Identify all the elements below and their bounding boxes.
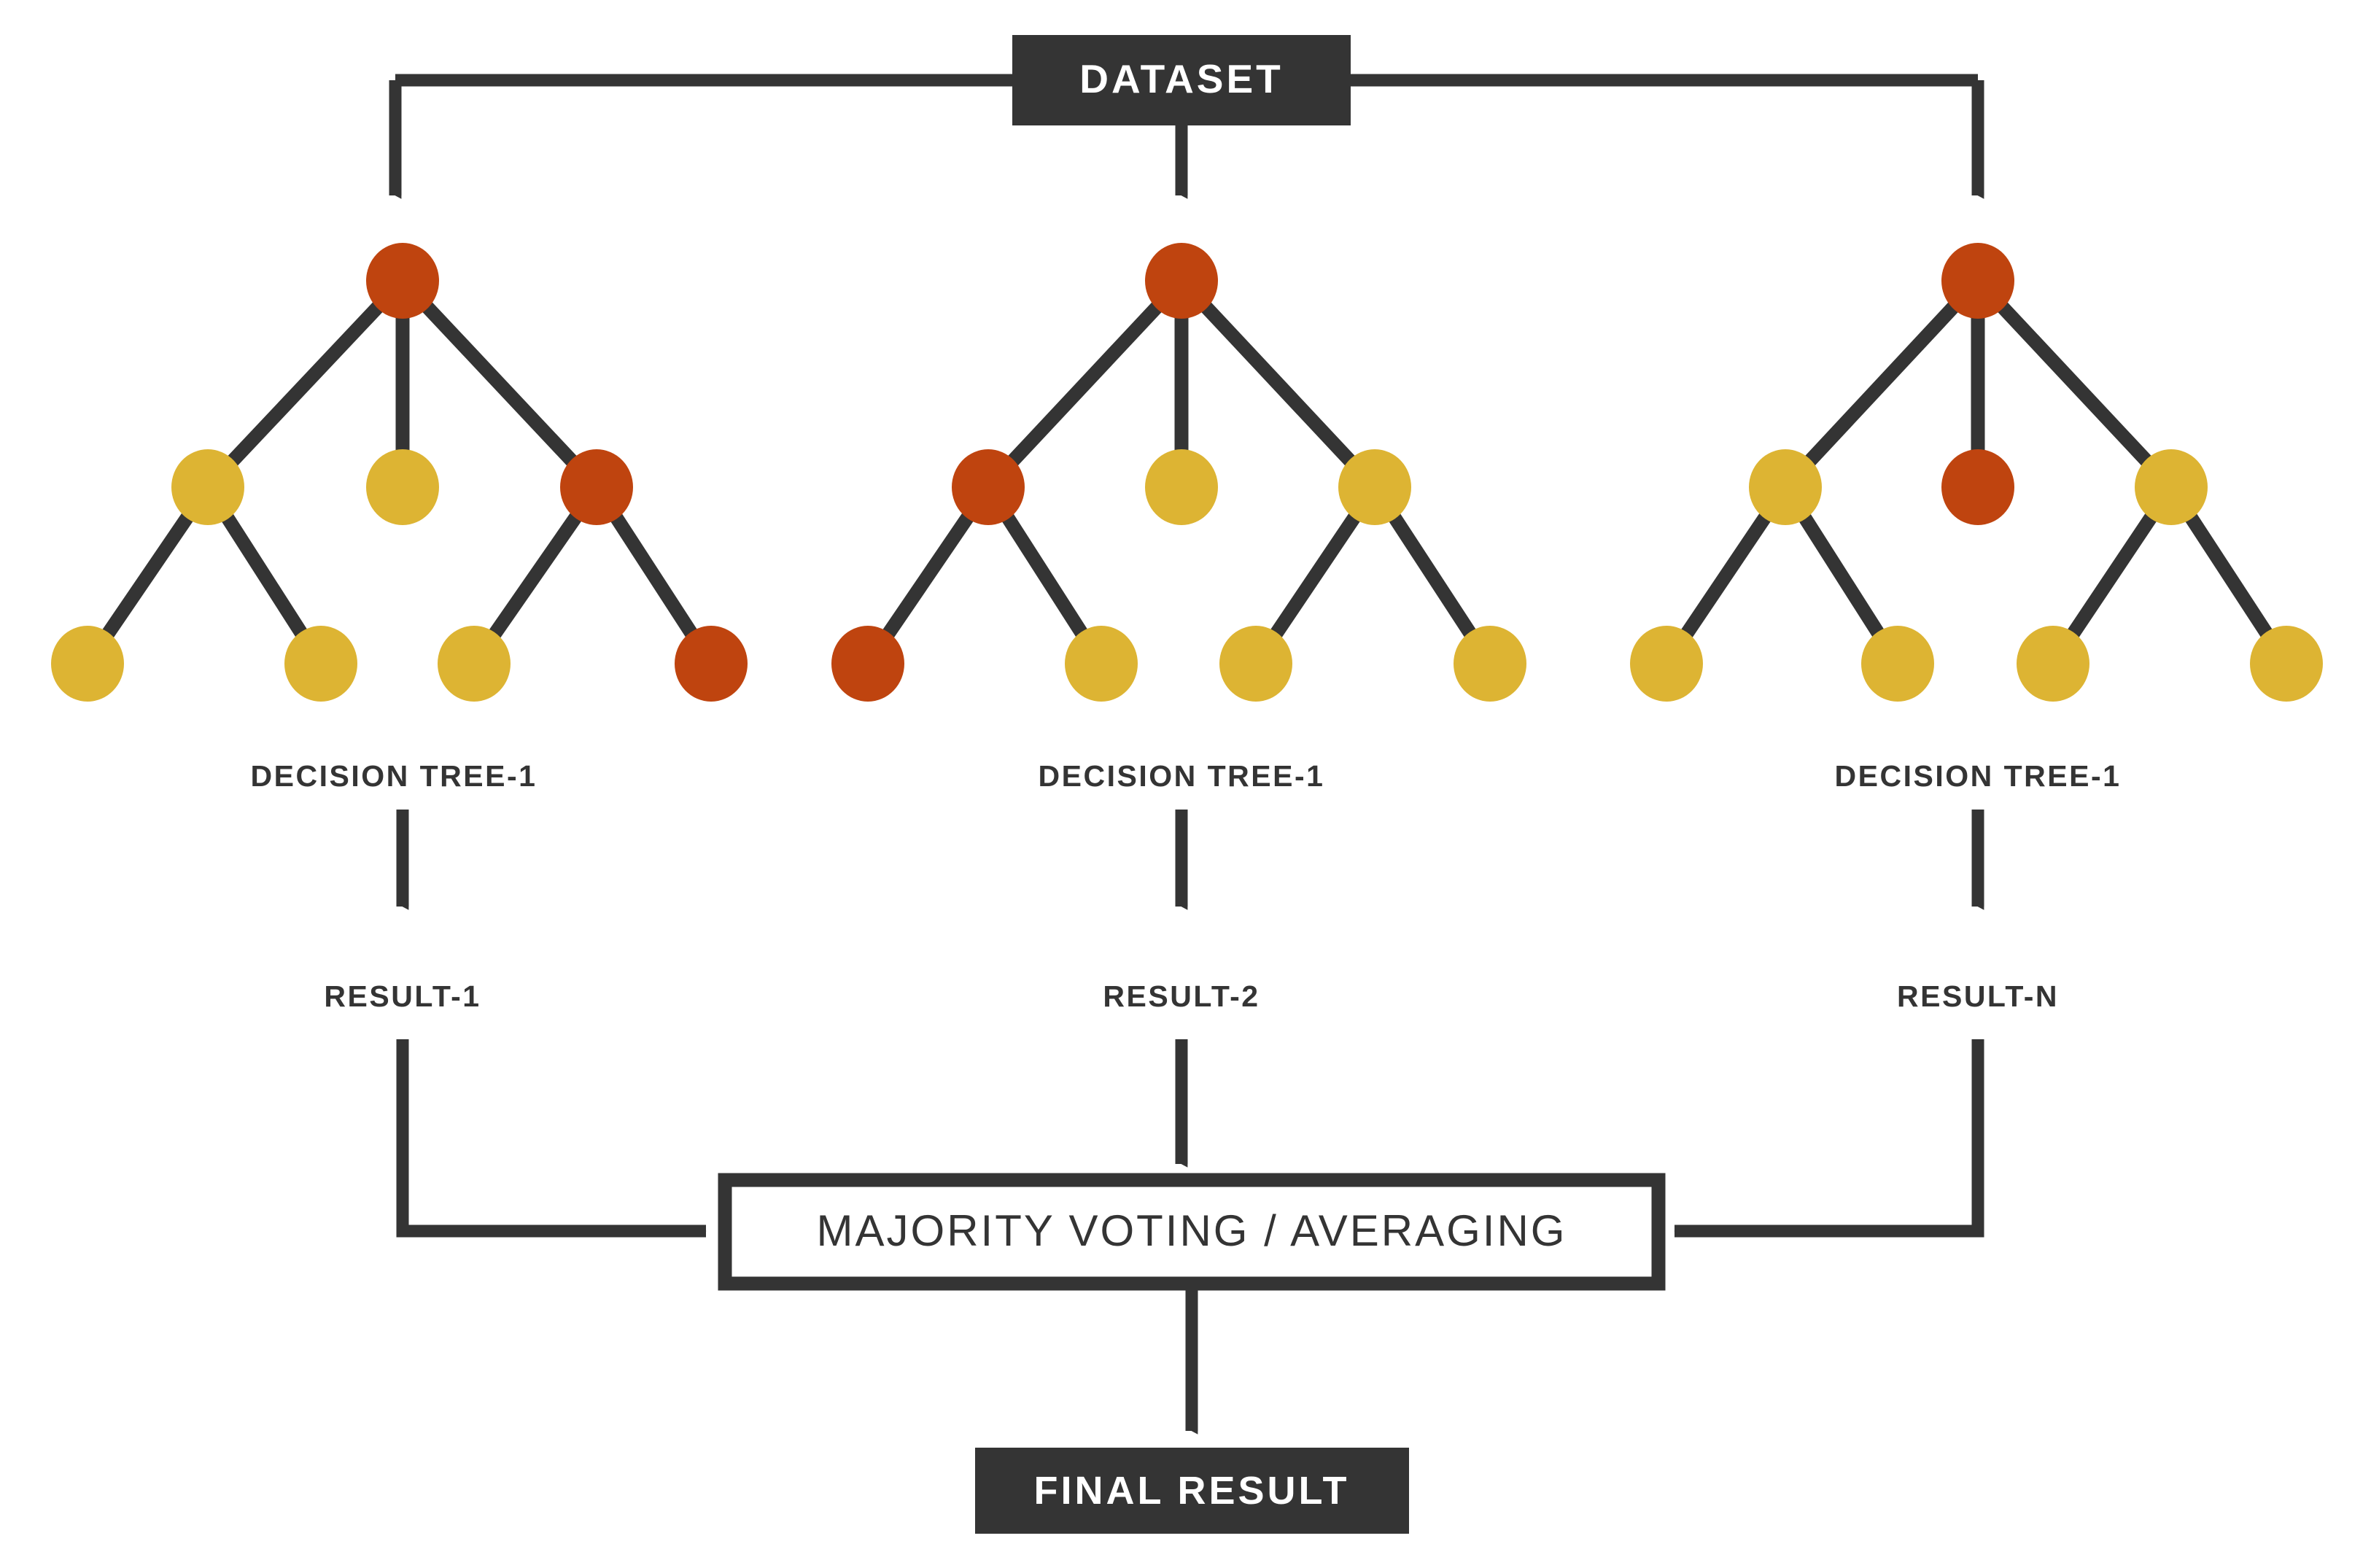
result-1-label: RESULT-1 bbox=[324, 979, 481, 1013]
tree3-node-l2-1[interactable] bbox=[1941, 449, 2014, 525]
tree3-node-l2-2[interactable] bbox=[2135, 449, 2208, 525]
dataset-box-label: DATASET bbox=[1079, 56, 1284, 101]
tree3-node-l3-1[interactable] bbox=[1861, 626, 1934, 702]
tree3-edge-root-r bbox=[1978, 281, 2171, 487]
tree1-node-l2-2[interactable] bbox=[560, 449, 633, 525]
tree3-node-root[interactable] bbox=[1941, 243, 2014, 319]
tree-1-nodes bbox=[51, 243, 748, 702]
tree-3-nodes bbox=[1630, 243, 2323, 702]
tree1-edge-root-l bbox=[208, 281, 403, 487]
result-2-label: RESULT-2 bbox=[1103, 979, 1260, 1013]
tree1-node-root[interactable] bbox=[366, 243, 439, 319]
result-n-label: RESULT-N bbox=[1897, 979, 2059, 1013]
tree3-edge-root-l bbox=[1785, 281, 1978, 487]
tree2-node-l3-1[interactable] bbox=[1065, 626, 1138, 702]
tree1-edge-root-r bbox=[403, 281, 597, 487]
tree3-node-l3-3[interactable] bbox=[2250, 626, 2323, 702]
diagram-canvas: DATASET bbox=[0, 0, 2371, 1568]
tree2-node-root[interactable] bbox=[1145, 243, 1218, 319]
tree-3-caption: DECISION TREE-1 bbox=[1835, 759, 2122, 793]
tree1-node-l2-1[interactable] bbox=[366, 449, 439, 525]
tree-to-result-connectors bbox=[403, 810, 1978, 907]
tree3-node-l3-0[interactable] bbox=[1630, 626, 1703, 702]
tree2-node-l2-1[interactable] bbox=[1145, 449, 1218, 525]
dataset-box[interactable]: DATASET bbox=[1012, 35, 1351, 125]
tree3-node-l2-0[interactable] bbox=[1749, 449, 1822, 525]
tree2-node-l3-2[interactable] bbox=[1219, 626, 1292, 702]
tree2-node-l3-3[interactable] bbox=[1454, 626, 1526, 702]
tree2-edge-root-l bbox=[988, 281, 1181, 487]
majority-voting-box[interactable]: MAJORITY VOTING / AVERAGING bbox=[725, 1180, 1658, 1284]
tree2-node-l2-0[interactable] bbox=[952, 449, 1025, 525]
tree1-node-l2-0[interactable] bbox=[171, 449, 244, 525]
tree-1-caption: DECISION TREE-1 bbox=[251, 759, 538, 793]
result1-to-voting-arrow bbox=[403, 1039, 706, 1231]
tree2-edge-root-r bbox=[1181, 281, 1375, 487]
resultn-to-voting-arrow bbox=[1675, 1039, 1978, 1231]
random-forest-diagram: DATASET bbox=[0, 0, 2371, 1568]
tree-2-caption: DECISION TREE-1 bbox=[1039, 759, 1325, 793]
tree1-node-l3-1[interactable] bbox=[284, 626, 357, 702]
tree3-node-l3-2[interactable] bbox=[2017, 626, 2089, 702]
tree1-node-l3-2[interactable] bbox=[438, 626, 511, 702]
tree1-node-l3-0[interactable] bbox=[51, 626, 124, 702]
tree2-node-l3-0[interactable] bbox=[831, 626, 904, 702]
majority-voting-box-label: MAJORITY VOTING / AVERAGING bbox=[817, 1206, 1567, 1255]
final-result-box-label: FINAL RESULT bbox=[1034, 1469, 1350, 1513]
final-result-box[interactable]: FINAL RESULT bbox=[975, 1448, 1409, 1534]
tree-2-nodes bbox=[831, 243, 1526, 702]
tree1-node-l3-3[interactable] bbox=[675, 626, 748, 702]
tree2-node-l2-2[interactable] bbox=[1338, 449, 1411, 525]
